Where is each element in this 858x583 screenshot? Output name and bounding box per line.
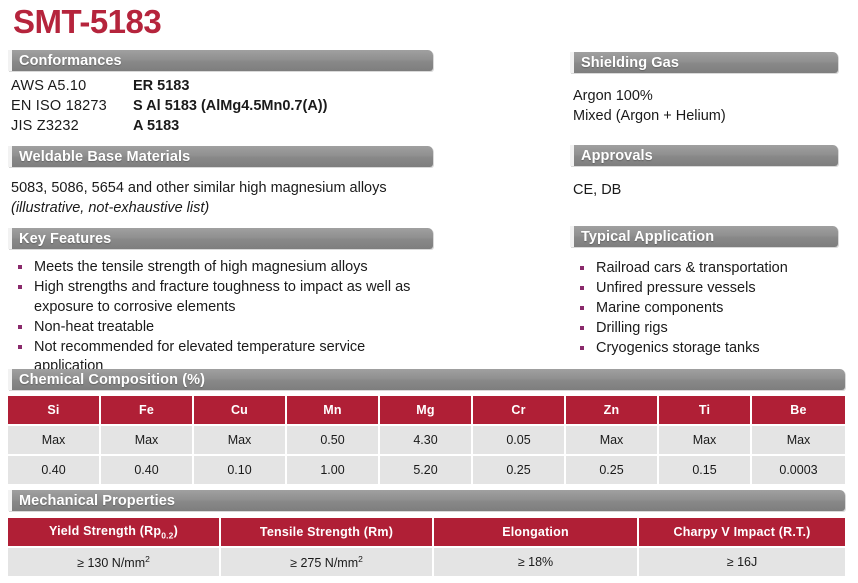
shielding-gas-line1: Argon 100% bbox=[573, 86, 853, 106]
section-header-label: Conformances bbox=[19, 53, 122, 69]
column-header-mn: Mn bbox=[287, 396, 380, 426]
table-cell: 0.0003 bbox=[752, 456, 845, 484]
list-item: Cryogenics storage tanks bbox=[573, 339, 853, 359]
table-cell: Max bbox=[101, 426, 194, 456]
bullet-icon bbox=[580, 346, 584, 350]
bullet-icon bbox=[580, 266, 584, 270]
key-features-list: Meets the tensile strength of high magne… bbox=[11, 258, 436, 377]
column-header-text: Yield Strength (Rp bbox=[49, 524, 161, 538]
list-item: Railroad cars & transportation bbox=[573, 259, 853, 279]
section-header-shielding-gas: Shielding Gas bbox=[570, 52, 838, 73]
table-cell: 0.10 bbox=[194, 456, 287, 484]
section-header-chemical-composition: Chemical Composition (%) bbox=[8, 369, 845, 390]
list-item-label: High strengths and fracture toughness to… bbox=[34, 279, 410, 315]
section-header-key-features: Key Features bbox=[8, 228, 433, 249]
conformance-standard: AWS A5.10 bbox=[11, 78, 133, 98]
list-item-label: Meets the tensile strength of high magne… bbox=[34, 259, 368, 275]
table-cell: Max bbox=[659, 426, 752, 456]
cell-superscript: 2 bbox=[145, 554, 150, 564]
conformance-designation: ER 5183 bbox=[133, 78, 327, 98]
section-header-label: Mechanical Properties bbox=[19, 493, 175, 509]
list-item-label: Unfired pressure vessels bbox=[596, 280, 756, 296]
table-row: 0.40 0.40 0.10 1.00 5.20 0.25 0.25 0.15 … bbox=[8, 456, 845, 484]
section-header-typical-application: Typical Application bbox=[570, 226, 838, 247]
table-cell: 0.05 bbox=[473, 426, 566, 456]
section-header-label: Typical Application bbox=[581, 229, 714, 245]
conformance-standard: EN ISO 18273 bbox=[11, 98, 133, 118]
table-cell: Max bbox=[8, 426, 101, 456]
cell-text: ≥ 130 N/mm bbox=[77, 556, 145, 570]
column-header-be: Be bbox=[752, 396, 845, 426]
list-item-label: Non-heat treatable bbox=[34, 319, 154, 335]
column-header-charpy-v-impact: Charpy V Impact (R.T.) bbox=[639, 518, 845, 548]
table-row: AWS A5.10 ER 5183 bbox=[11, 78, 327, 98]
table-cell: 0.40 bbox=[101, 456, 194, 484]
weldable-base-materials-note: (illustrative, not-exhaustive list) bbox=[11, 198, 451, 218]
section-header-label: Shielding Gas bbox=[581, 55, 679, 71]
list-item-label: Cryogenics storage tanks bbox=[596, 340, 760, 356]
section-header-label: Key Features bbox=[19, 231, 111, 247]
table-cell-charpy-v-impact: ≥ 16J bbox=[639, 548, 845, 576]
table-cell: 0.40 bbox=[8, 456, 101, 484]
section-header-label: Approvals bbox=[581, 148, 653, 164]
list-item: Non-heat treatable bbox=[11, 318, 436, 338]
shielding-gas-line2: Mixed (Argon + Helium) bbox=[573, 106, 853, 126]
mechanical-properties-table: Yield Strength (Rp0.2) Tensile Strength … bbox=[8, 518, 845, 576]
weldable-base-materials-text: 5083, 5086, 5654 and other similar high … bbox=[11, 178, 451, 218]
approvals-value: CE, DB bbox=[573, 180, 853, 200]
column-header-yield-strength: Yield Strength (Rp0.2) bbox=[8, 518, 221, 548]
list-item-label: Drilling rigs bbox=[596, 320, 668, 336]
column-header-cr: Cr bbox=[473, 396, 566, 426]
column-header-fe: Fe bbox=[101, 396, 194, 426]
table-cell: 0.50 bbox=[287, 426, 380, 456]
conformance-designation: S Al 5183 (AlMg4.5Mn0.7(A)) bbox=[133, 98, 327, 118]
weldable-base-materials-line1: 5083, 5086, 5654 and other similar high … bbox=[11, 178, 451, 198]
section-header-label: Chemical Composition (%) bbox=[19, 372, 205, 388]
section-header-approvals: Approvals bbox=[570, 145, 838, 166]
list-item-label: Railroad cars & transportation bbox=[596, 260, 788, 276]
table-cell: Max bbox=[566, 426, 659, 456]
table-row: EN ISO 18273 S Al 5183 (AlMg4.5Mn0.7(A)) bbox=[11, 98, 327, 118]
bullet-icon bbox=[18, 325, 22, 329]
list-item: High strengths and fracture toughness to… bbox=[11, 278, 436, 317]
bullet-icon bbox=[18, 285, 22, 289]
bullet-icon bbox=[580, 326, 584, 330]
bullet-icon bbox=[18, 345, 22, 349]
table-cell-yield-strength: ≥ 130 N/mm2 bbox=[8, 548, 221, 576]
shielding-gas-text: Argon 100% Mixed (Argon + Helium) bbox=[573, 86, 853, 126]
column-header-zn: Zn bbox=[566, 396, 659, 426]
column-header-ti: Ti bbox=[659, 396, 752, 426]
table-cell-elongation: ≥ 18% bbox=[434, 548, 639, 576]
table-cell: 0.25 bbox=[473, 456, 566, 484]
conformance-standard: JIS Z3232 bbox=[11, 118, 133, 138]
bullet-icon bbox=[18, 265, 22, 269]
list-item: Drilling rigs bbox=[573, 319, 853, 339]
section-header-weldable-base-materials: Weldable Base Materials bbox=[8, 146, 433, 167]
column-header-cu: Cu bbox=[194, 396, 287, 426]
list-item: Marine components bbox=[573, 299, 853, 319]
list-item: Unfired pressure vessels bbox=[573, 279, 853, 299]
column-header-mg: Mg bbox=[380, 396, 473, 426]
bullet-icon bbox=[580, 306, 584, 310]
cell-superscript: 2 bbox=[358, 554, 363, 564]
table-row: Max Max Max 0.50 4.30 0.05 Max Max Max bbox=[8, 426, 845, 456]
column-header-elongation: Elongation bbox=[434, 518, 639, 548]
page-title: SMT-5183 bbox=[13, 2, 161, 42]
table-cell: 4.30 bbox=[380, 426, 473, 456]
column-header-subscript: 0.2 bbox=[161, 530, 173, 540]
conformances-table: AWS A5.10 ER 5183 EN ISO 18273 S Al 5183… bbox=[11, 78, 327, 138]
table-row: ≥ 130 N/mm2 ≥ 275 N/mm2 ≥ 18% ≥ 16J bbox=[8, 548, 845, 576]
column-header-text-post: ) bbox=[174, 524, 178, 538]
section-header-mechanical-properties: Mechanical Properties bbox=[8, 490, 845, 511]
table-row: JIS Z3232 A 5183 bbox=[11, 118, 327, 138]
table-cell: 1.00 bbox=[287, 456, 380, 484]
table-cell-tensile-strength: ≥ 275 N/mm2 bbox=[221, 548, 434, 576]
section-header-conformances: Conformances bbox=[8, 50, 433, 71]
table-header-row: Si Fe Cu Mn Mg Cr Zn Ti Be bbox=[8, 396, 845, 426]
table-cell: 5.20 bbox=[380, 456, 473, 484]
list-item: Meets the tensile strength of high magne… bbox=[11, 258, 436, 278]
table-cell: 0.15 bbox=[659, 456, 752, 484]
chemical-composition-table: Si Fe Cu Mn Mg Cr Zn Ti Be Max Max Max 0… bbox=[8, 396, 845, 484]
column-header-si: Si bbox=[8, 396, 101, 426]
table-header-row: Yield Strength (Rp0.2) Tensile Strength … bbox=[8, 518, 845, 548]
list-item-label: Marine components bbox=[596, 300, 723, 316]
table-cell: Max bbox=[194, 426, 287, 456]
datasheet-page: SMT-5183 Conformances AWS A5.10 ER 5183 … bbox=[0, 0, 858, 583]
table-cell: 0.25 bbox=[566, 456, 659, 484]
table-cell: Max bbox=[752, 426, 845, 456]
column-header-tensile-strength: Tensile Strength (Rm) bbox=[221, 518, 434, 548]
conformance-designation: A 5183 bbox=[133, 118, 327, 138]
cell-text: ≥ 275 N/mm bbox=[290, 556, 358, 570]
section-header-label: Weldable Base Materials bbox=[19, 149, 190, 165]
bullet-icon bbox=[580, 286, 584, 290]
typical-application-list: Railroad cars & transportation Unfired p… bbox=[573, 259, 853, 359]
